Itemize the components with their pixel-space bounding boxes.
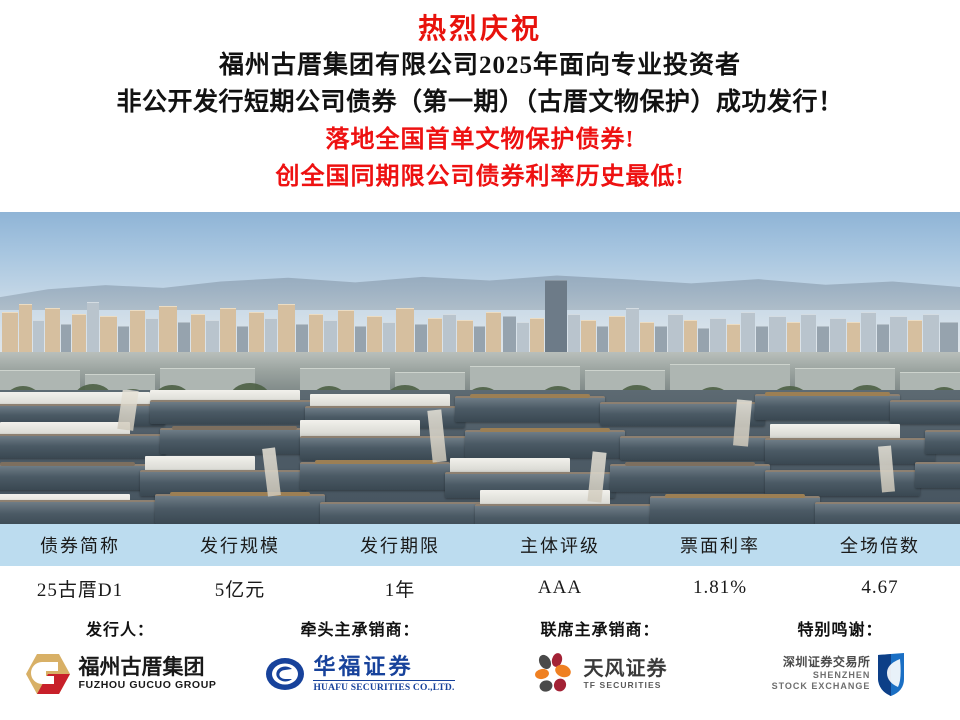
- role-label-issuer: 发行人：: [86, 616, 154, 640]
- col-header-term: 发行期限: [320, 524, 480, 566]
- headline-celebrate: 热烈庆祝: [0, 13, 960, 47]
- szse-logo-en-line1: SHENZHEN: [813, 670, 871, 681]
- cell-coupon-rate: 1.81%: [640, 566, 800, 610]
- headline-bond-line: 非公开发行短期公司债券（第一期）（古厝文物保护）成功发行！: [0, 84, 960, 122]
- huafu-securities-logo: 华福证券 HUAFU SECURITIES CO.,LTD.: [265, 648, 454, 700]
- col-header-bond-name: 债券简称: [0, 524, 160, 566]
- tf-logo-cn: 天风证券: [584, 658, 668, 680]
- role-label-joint-underwriter: 联席主承销商：: [540, 616, 659, 640]
- gucuo-aerial-photo: [0, 212, 960, 524]
- footer-col-lead-underwriter: 牵头主承销商： 华福证券 HUAFU SECURITIES CO.,LTD.: [240, 610, 480, 720]
- cell-issuer-rating: AAA: [480, 566, 640, 610]
- bond-summary-table: 债券简称 发行规模 发行期限 主体评级 票面利率 全场倍数 25古厝D1 5亿元…: [0, 524, 960, 610]
- tf-logo-en: TF SECURITIES: [584, 680, 662, 691]
- traditional-rooftops-layer: [0, 390, 960, 524]
- headline-issuer-line: 福州古厝集团有限公司2025年面向专业投资者: [0, 47, 960, 84]
- fuzhou-gucuo-group-logo: 福州古厝集团 FUZHOU GUCUO GROUP: [24, 648, 217, 700]
- table-row: 25古厝D1 5亿元 1年 AAA 1.81% 4.67: [0, 566, 960, 610]
- huafu-logo-en: HUAFU SECURITIES CO.,LTD.: [313, 680, 454, 694]
- footer-partners: 发行人： 福州古厝集团 FUZHOU GUCUO GROUP 牵头主承销商：: [0, 610, 960, 720]
- role-label-special-thanks: 特别鸣谢：: [797, 616, 882, 640]
- cell-term: 1年: [320, 566, 480, 610]
- cell-issue-size: 5亿元: [160, 566, 320, 610]
- footer-col-special-thanks: 特别鸣谢： 深圳证券交易所 SHENZHEN STOCK EXCHANGE: [720, 610, 960, 720]
- celebration-poster: 热烈庆祝 福州古厝集团有限公司2025年面向专业投资者 非公开发行短期公司债券（…: [0, 0, 960, 720]
- gucuo-logo-en: FUZHOU GUCUO GROUP: [79, 679, 217, 692]
- huafu-logo-cn: 华福证券: [313, 655, 413, 679]
- gucuo-logo-cn: 福州古厝集团: [79, 656, 205, 679]
- headline-lowest-rate: 创全国同期限公司债券利率历史最低!: [0, 159, 960, 196]
- szse-shield-icon: [874, 651, 908, 697]
- role-label-lead-underwriter: 牵头主承销商：: [300, 616, 419, 640]
- cell-bond-name: 25古厝D1: [0, 566, 160, 610]
- tf-petals-icon: [533, 653, 577, 695]
- shenzhen-stock-exchange-logo: 深圳证券交易所 SHENZHEN STOCK EXCHANGE: [772, 648, 909, 700]
- szse-logo-en-line2: STOCK EXCHANGE: [772, 681, 871, 692]
- table-header-row: 债券简称 发行规模 发行期限 主体评级 票面利率 全场倍数: [0, 524, 960, 566]
- szse-logo-cn: 深圳证券交易所: [783, 655, 871, 670]
- cell-subscription-multiple: 4.67: [800, 566, 960, 610]
- huafu-spiral-icon: [265, 654, 305, 694]
- headline-block: 热烈庆祝 福州古厝集团有限公司2025年面向专业投资者 非公开发行短期公司债券（…: [0, 0, 960, 212]
- col-header-coupon-rate: 票面利率: [640, 524, 800, 566]
- footer-col-joint-underwriter: 联席主承销商： 天风证券 TF SECURITIES: [480, 610, 720, 720]
- footer-col-issuer: 发行人： 福州古厝集团 FUZHOU GUCUO GROUP: [0, 610, 240, 720]
- col-header-issue-size: 发行规模: [160, 524, 320, 566]
- tf-securities-logo: 天风证券 TF SECURITIES: [533, 648, 668, 700]
- col-header-issuer-rating: 主体评级: [480, 524, 640, 566]
- headline-first-in-nation: 落地全国首单文物保护债券!: [0, 122, 960, 159]
- modern-skyline-layer: [0, 274, 960, 364]
- gucuo-hexagon-icon: [24, 652, 72, 696]
- col-header-subscription-multiple: 全场倍数: [800, 524, 960, 566]
